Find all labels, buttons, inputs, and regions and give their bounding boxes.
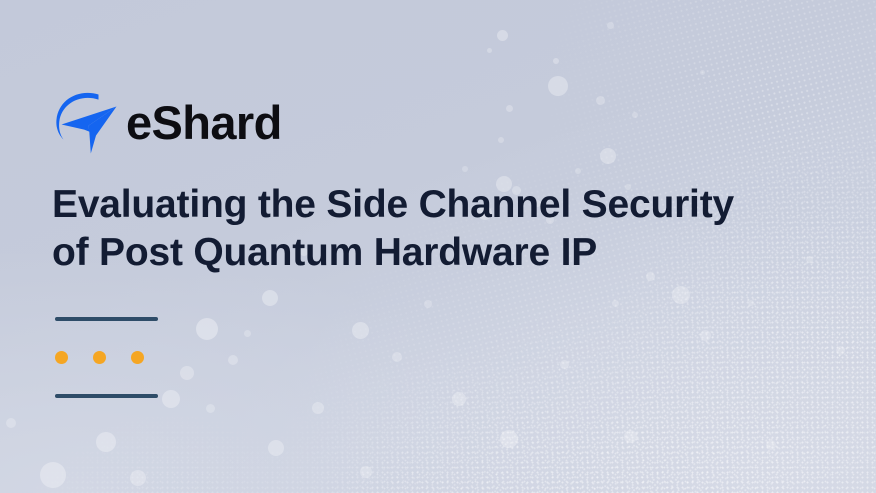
decor-rule-bottom — [55, 394, 158, 398]
title-slide: eShard Evaluating the Side Channel Secur… — [0, 0, 876, 493]
brand-wordmark: eShard — [126, 99, 282, 146]
decor-rule-top — [55, 317, 158, 321]
slide-content: eShard Evaluating the Side Channel Secur… — [0, 0, 876, 493]
title-line-2: of Post Quantum Hardware IP — [52, 229, 842, 277]
brand-logo: eShard — [50, 83, 282, 161]
title-line-1: Evaluating the Side Channel Security — [52, 181, 842, 229]
paper-plane-arc-icon — [50, 85, 124, 159]
decor-dot-2 — [93, 351, 106, 364]
decor-dot-3 — [131, 351, 144, 364]
page-title: Evaluating the Side Channel Security of … — [52, 181, 842, 277]
decor-dot-row — [55, 351, 158, 364]
decor-dot-1 — [55, 351, 68, 364]
